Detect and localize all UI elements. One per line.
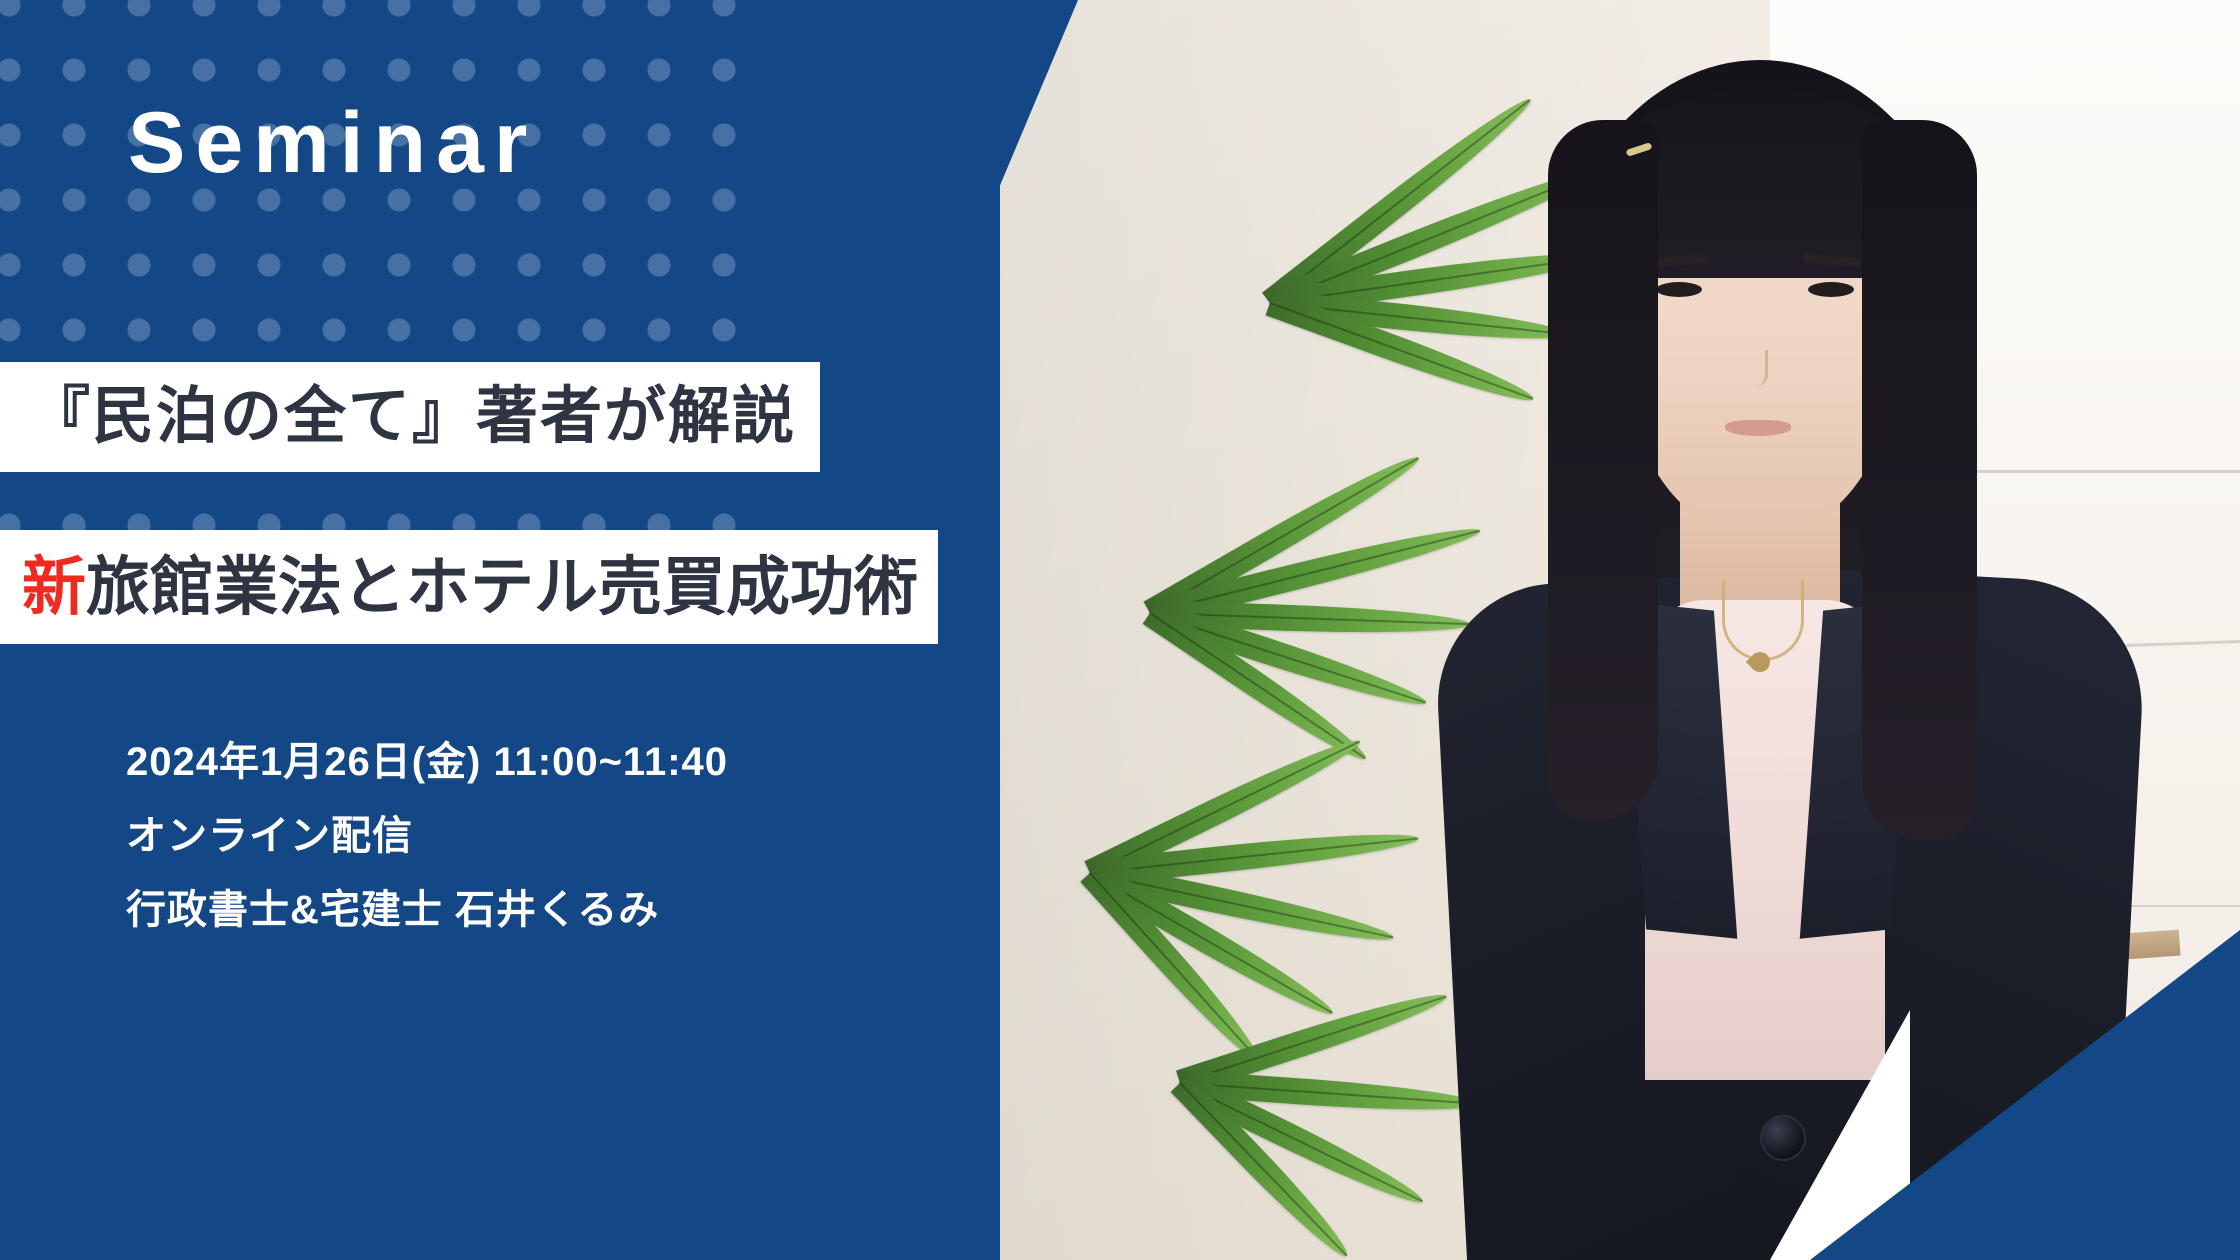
event-details: 2024年1月26日(金) 11:00~11:40 オンライン配信 行政書士&宅… <box>126 742 728 930</box>
headline-secondary-rest: 旅館業法とホテル売買成功術 <box>86 551 918 623</box>
jacket-button <box>1760 1115 1806 1161</box>
detail-format: オンライン配信 <box>126 816 728 856</box>
nose <box>1745 350 1768 386</box>
mouth <box>1725 420 1791 436</box>
seminar-banner: Seminar 『民泊の全て』著者が解説 新旅館業法とホテル売買成功術 2024… <box>0 0 2240 1260</box>
eye-right <box>1808 282 1854 297</box>
necklace <box>1722 580 1804 661</box>
headline-text-primary: 『民泊の全て』著者が解説 <box>28 386 796 448</box>
eyebrow-label: Seminar <box>128 100 537 186</box>
detail-speaker: 行政書士&宅建士 石井くるみ <box>126 890 728 930</box>
headline-text-secondary: 新旅館業法とホテル売買成功術 <box>22 555 918 619</box>
headline-highlight-new: 新 <box>22 551 86 623</box>
speaker-photo <box>1000 0 2240 1260</box>
detail-datetime: 2024年1月26日(金) 11:00~11:40 <box>126 742 728 782</box>
eye-left <box>1656 282 1702 297</box>
hair-front-left <box>1548 120 1658 820</box>
headline-bar-secondary: 新旅館業法とホテル売買成功術 <box>0 530 938 644</box>
hair-front-right <box>1862 120 1977 840</box>
headline-bar-primary: 『民泊の全て』著者が解説 <box>0 362 820 472</box>
